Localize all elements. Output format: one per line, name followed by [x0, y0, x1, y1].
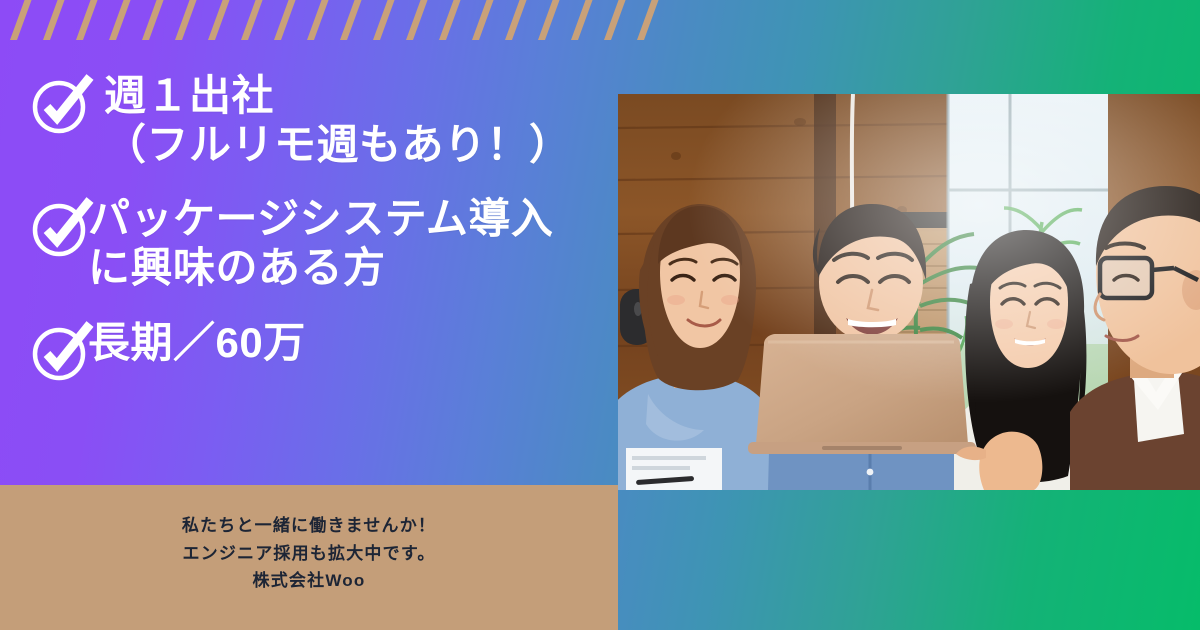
- left-content-column: 週１出社 （フルリモ週もあり！） パッケージシステム導入 に興味のある方: [0, 0, 618, 485]
- recruitment-banner: 週１出社 （フルリモ週もあり！） パッケージシステム導入 に興味のある方: [0, 0, 1200, 630]
- check-circle-icon: [30, 197, 92, 259]
- footer-line-2: エンジニア採用も拡大中です。: [0, 540, 618, 568]
- diagonal-stripe: [635, 0, 660, 40]
- check-circle-icon: [30, 74, 92, 136]
- check-circle-icon: [30, 321, 92, 383]
- footer-band: 私たちと一緒に働きませんか！ エンジニア採用も拡大中です。 株式会社Woo: [0, 485, 618, 630]
- footer-company-name: 株式会社Woo: [0, 567, 618, 595]
- bullet-list: 週１出社 （フルリモ週もあり！） パッケージシステム導入 に興味のある方: [30, 72, 620, 383]
- team-meeting-photo: [618, 94, 1200, 490]
- bullet-label: 週１出社 （フルリモ週もあり！）: [104, 72, 572, 169]
- bullet-item: パッケージシステム導入 に興味のある方: [30, 195, 620, 292]
- bullet-label: 長期／60万: [88, 319, 306, 368]
- footer-line-1: 私たちと一緒に働きませんか！: [0, 512, 618, 540]
- bullet-item: 長期／60万: [30, 319, 620, 383]
- bullet-item: 週１出社 （フルリモ週もあり！）: [30, 72, 620, 169]
- footer-message: 私たちと一緒に働きませんか！ エンジニア採用も拡大中です。 株式会社Woo: [0, 512, 618, 595]
- bullet-label: パッケージシステム導入 に興味のある方: [88, 195, 553, 292]
